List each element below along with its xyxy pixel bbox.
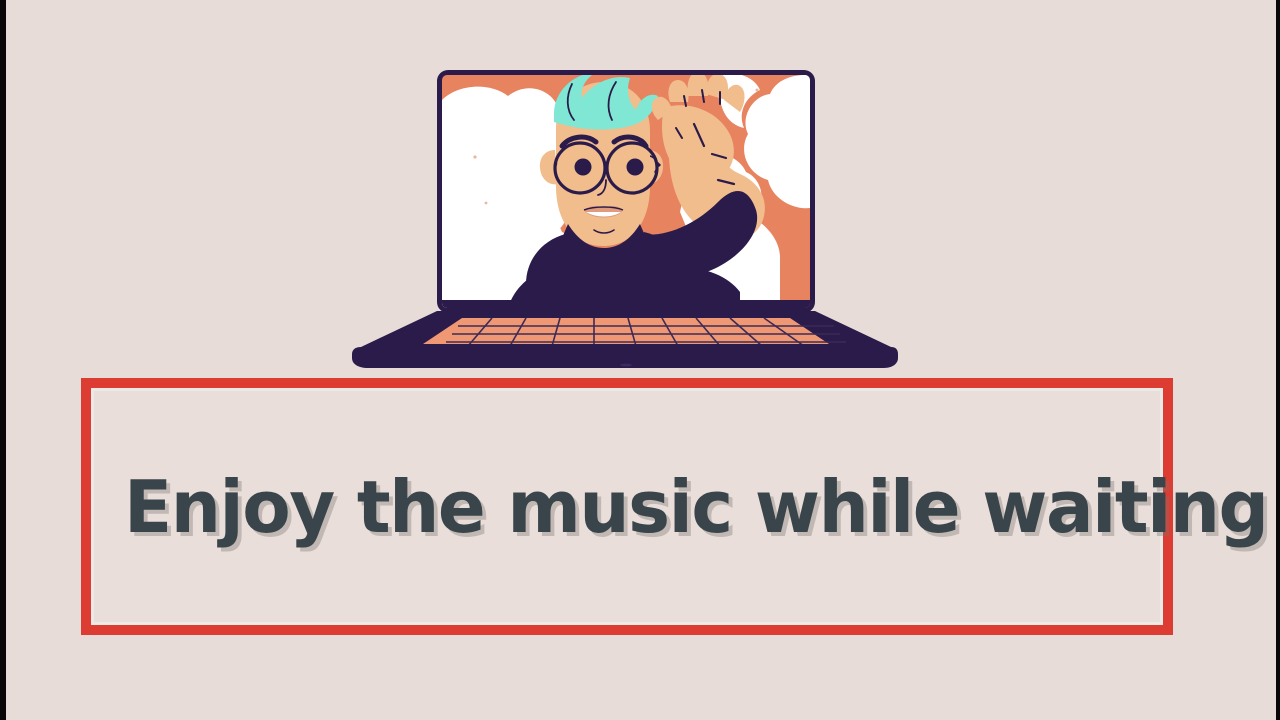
caption-banner-panel: Enjoy the music while waiting xyxy=(91,388,1163,625)
laptop-base xyxy=(352,311,898,368)
letterbox-bar-left xyxy=(0,0,6,720)
laptop-illustration xyxy=(340,62,912,368)
laptop-keyboard xyxy=(412,318,846,352)
caption-text: Enjoy the music while waiting xyxy=(124,471,1268,543)
laptop-screen xyxy=(442,72,810,312)
letterbox-bar-right xyxy=(1276,0,1280,720)
video-frame: Enjoy the music while waiting xyxy=(0,0,1280,720)
